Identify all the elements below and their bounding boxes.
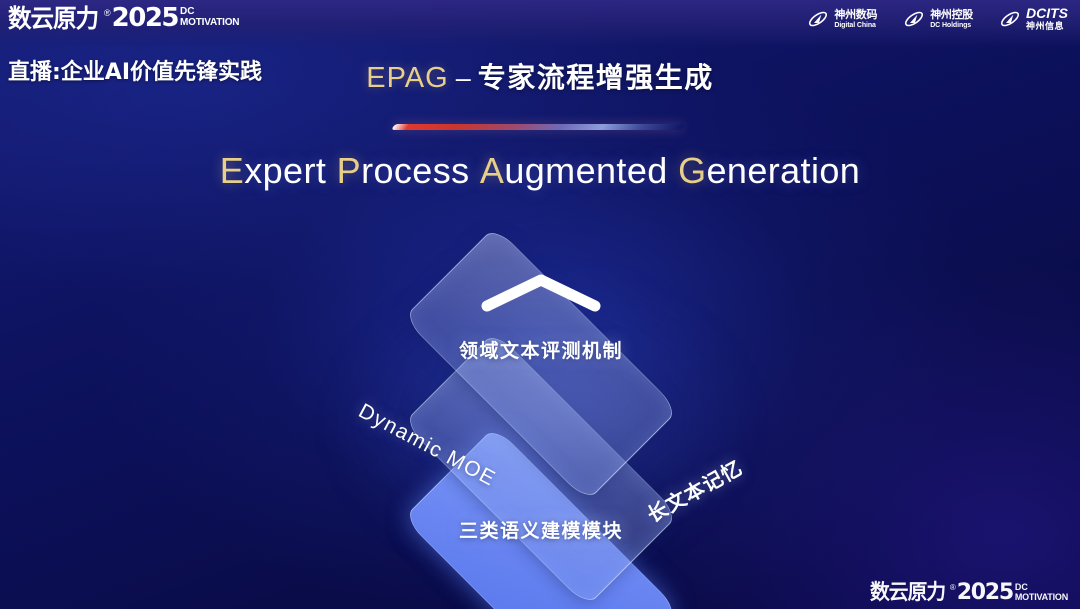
registered-mark-icon: ® — [104, 7, 111, 19]
partner-logo-dcits: DCITS 神州信息 — [999, 6, 1068, 32]
partner-name-cn: 神州数码 — [834, 9, 877, 20]
event-logo-motivation: MOTIVATION — [180, 17, 239, 28]
partner-name-cn: 神州控股 — [930, 9, 973, 20]
event-logo-cn: 数云原力 — [8, 5, 98, 32]
heading-cap-p: P — [337, 150, 361, 191]
event-logo: 数云原力 ® 2025 DC MOTIVATION — [8, 5, 239, 32]
partner-logo-digital-china: 神州数码 Digital China — [807, 8, 877, 30]
live-stream-subtitle: 直播:企业AI价值先锋实践 — [8, 54, 262, 86]
partner-logo-text: 神州数码 Digital China — [834, 9, 877, 30]
partner-logo-text: DCITS 神州信息 — [1026, 6, 1068, 32]
title-acronym: EPAG — [366, 62, 448, 94]
heading-cap-g: G — [678, 150, 706, 191]
heading-rest-generation: eneration — [706, 150, 860, 191]
partner-logo-group: 神州数码 Digital China 神州控股 DC Holdings — [807, 6, 1068, 32]
heading-rest-expert: xpert — [244, 150, 326, 191]
swirl-logo-icon — [999, 8, 1021, 30]
watermark-dc-motivation: DC MOTIVATION — [1015, 583, 1068, 602]
heading-rest-augmented: ugmented — [504, 150, 667, 191]
partner-logo-dc-holdings: 神州控股 DC Holdings — [903, 8, 973, 30]
event-logo-dc-motivation: DC MOTIVATION — [180, 7, 239, 28]
partner-name-en: Digital China — [834, 22, 877, 29]
heading-rest-process: rocess — [361, 150, 469, 191]
title-chinese: 专家流程增强生成 — [478, 61, 714, 94]
watermark-cn: 数云原力 — [870, 581, 945, 604]
gradient-accent-bar — [391, 124, 685, 130]
event-logo-dc: DC — [180, 7, 239, 17]
stack-layer-bottom-label: 三类语义建模模块 — [296, 516, 786, 543]
swirl-logo-icon — [903, 8, 925, 30]
watermark-dc: DC — [1015, 583, 1068, 592]
swirl-logo-icon — [807, 8, 829, 30]
layered-architecture-stack: 领域文本评测机制 Dynamic MOE 长文本记忆 三类语义建模模块 — [296, 228, 786, 578]
partner-logo-text: 神州控股 DC Holdings — [930, 9, 973, 30]
event-logo-year: 2025 — [112, 5, 178, 32]
brand-watermark: 数云原力 ® 2025 DC MOTIVATION — [870, 581, 1068, 604]
heading-cap-e: E — [220, 150, 244, 191]
partner-name-en: 神州信息 — [1026, 23, 1068, 32]
presentation-slide: 数云原力 ® 2025 DC MOTIVATION 直播:企业AI价值先锋实践 … — [0, 0, 1080, 609]
english-expansion-heading: Expert Process Augmented Generation — [0, 150, 1080, 192]
partner-name-en: DC Holdings — [930, 22, 973, 29]
registered-mark-icon: ® — [950, 583, 956, 593]
heading-cap-a: A — [480, 150, 504, 191]
chevron-up-icon — [479, 272, 603, 314]
watermark-motivation: MOTIVATION — [1015, 592, 1068, 602]
title-dash: – — [456, 63, 471, 93]
watermark-year: 2025 — [957, 581, 1013, 604]
partner-name-cn: DCITS — [1026, 6, 1068, 20]
stack-layer-top-label: 领域文本评测机制 — [296, 336, 786, 363]
